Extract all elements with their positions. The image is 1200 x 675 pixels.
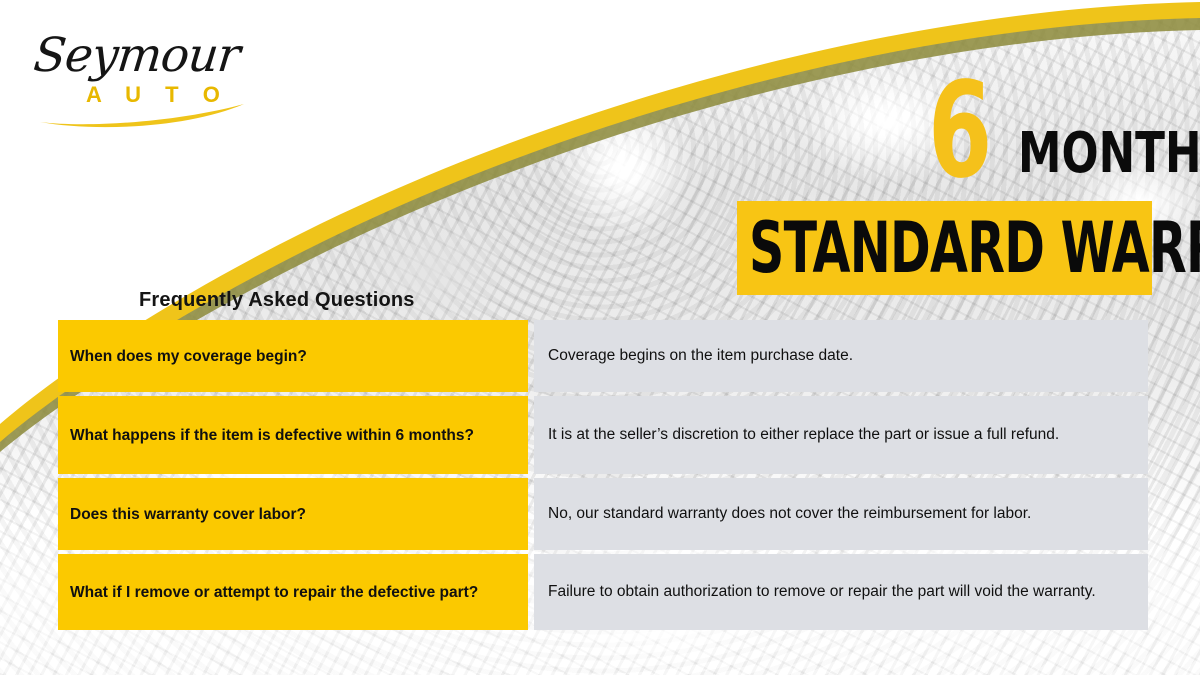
logo: Seymour A U T O — [26, 24, 256, 136]
table-row: Does this warranty cover labor? No, our … — [58, 478, 1148, 550]
faq-heading: Frequently Asked Questions — [139, 289, 415, 312]
table-row: What if I remove or attempt to repair th… — [58, 554, 1148, 630]
faq-question-cell: Does this warranty cover labor? — [58, 478, 528, 550]
standard-warranty-banner: STANDARD WARRANTY — [737, 201, 1152, 295]
faq-question-text: What if I remove or attempt to repair th… — [70, 582, 478, 603]
faq-answer-cell: Coverage begins on the item purchase dat… — [534, 320, 1148, 392]
faq-answer-cell: No, our standard warranty does not cover… — [534, 478, 1148, 550]
table-row: When does my coverage begin? Coverage be… — [58, 320, 1148, 392]
warranty-slide: Seymour A U T O 6 MONTH STANDARD WARRANT… — [0, 0, 1200, 675]
faq-answer-text: Failure to obtain authorization to remov… — [548, 581, 1096, 603]
logo-wordmark: Seymour — [31, 28, 242, 83]
table-row: What happens if the item is defective wi… — [58, 396, 1148, 474]
faq-answer-cell: Failure to obtain authorization to remov… — [534, 554, 1148, 630]
faq-question-cell: What if I remove or attempt to repair th… — [58, 554, 528, 630]
faq-answer-cell: It is at the seller’s discretion to eith… — [534, 396, 1148, 474]
standard-warranty-text: STANDARD WARRANTY — [749, 211, 1141, 285]
faq-question-text: When does my coverage begin? — [70, 346, 307, 367]
logo-swoosh-icon — [38, 102, 248, 128]
duration-unit: MONTH — [1018, 126, 1200, 182]
faq-answer-text: No, our standard warranty does not cover… — [548, 503, 1031, 525]
faq-question-cell: When does my coverage begin? — [58, 320, 528, 392]
faq-question-text: What happens if the item is defective wi… — [70, 425, 474, 446]
duration-number: 6 — [928, 72, 990, 190]
faq-question-cell: What happens if the item is defective wi… — [58, 396, 528, 474]
faq-answer-text: It is at the seller’s discretion to eith… — [548, 424, 1059, 446]
faq-question-text: Does this warranty cover labor? — [70, 504, 306, 525]
faq-answer-text: Coverage begins on the item purchase dat… — [548, 345, 853, 367]
faq-table: When does my coverage begin? Coverage be… — [58, 320, 1148, 630]
